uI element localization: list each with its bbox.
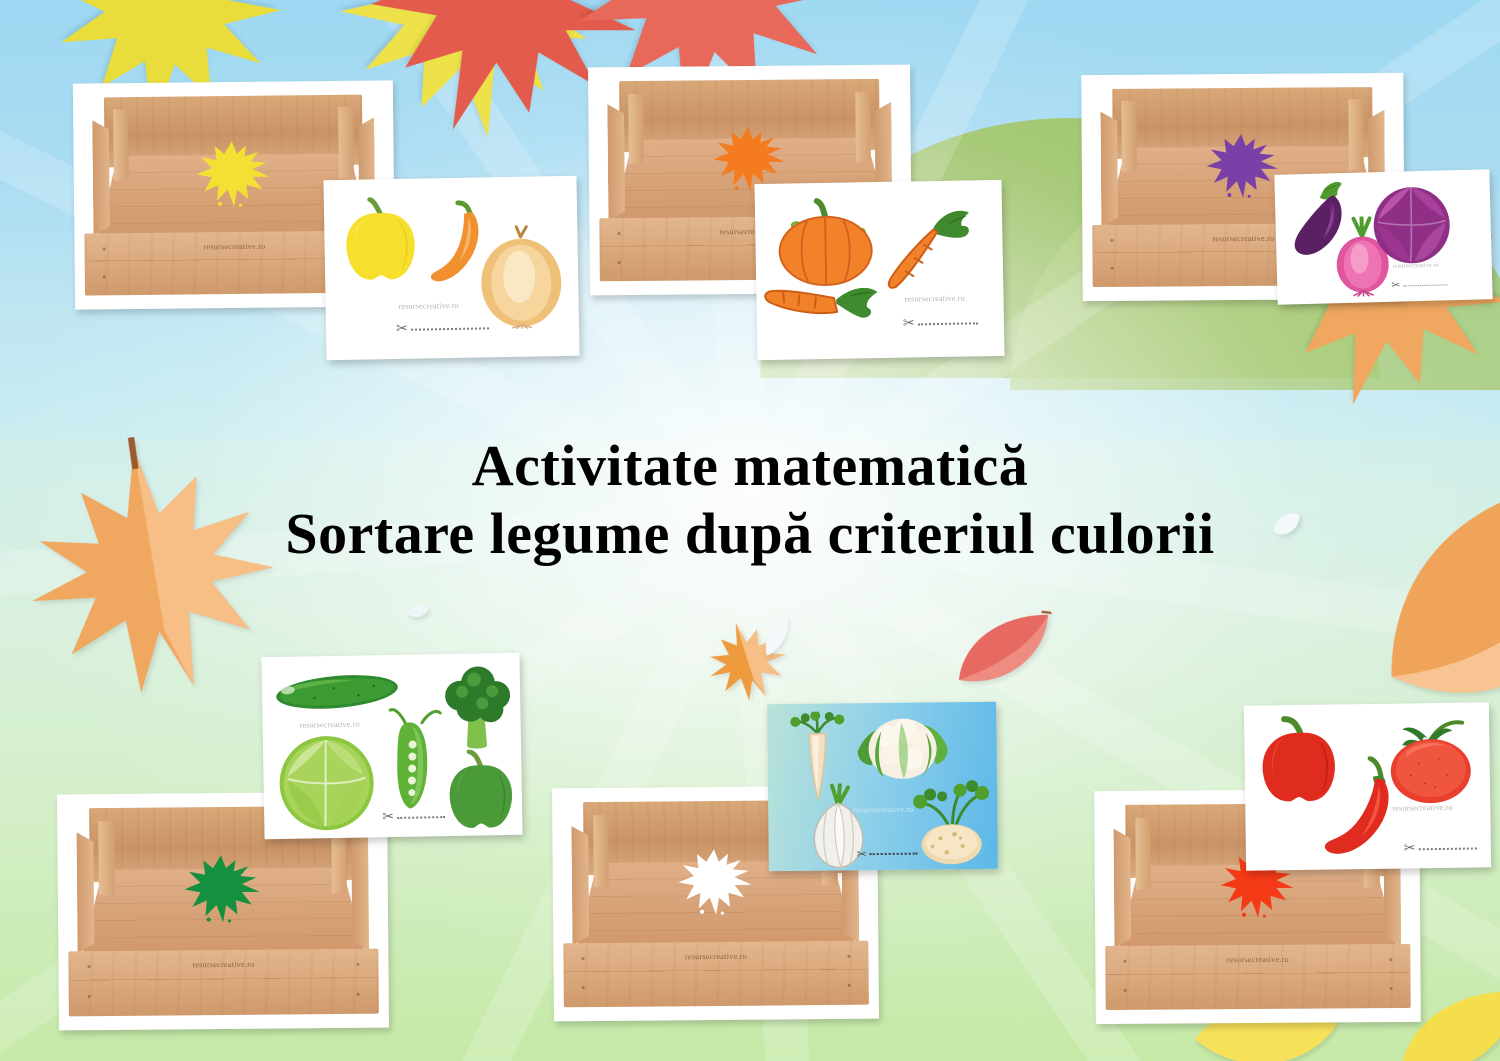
crate-post-left: [98, 821, 114, 895]
dashed-cut-line: [870, 853, 918, 856]
card-red[interactable]: resursecreative.ro ✂: [1244, 702, 1491, 870]
yellow-bell-pepper-icon: [340, 197, 422, 286]
title-line-2: Sortare legume după criteriul culorii: [0, 500, 1500, 568]
yellow-onion-icon: [474, 224, 568, 330]
scissors-icon: ✂: [396, 323, 408, 337]
dashed-cut-line: [1419, 847, 1477, 850]
scissors-icon: ✂: [1391, 281, 1401, 292]
crate-post-left: [113, 110, 129, 180]
card-watermark: resursecreative.ro: [399, 301, 459, 311]
petal-icon: [405, 602, 431, 622]
scissors-icon: ✂: [857, 848, 867, 860]
cut-line: ✂: [382, 810, 445, 825]
card-watermark: resursecreative.ro: [300, 720, 360, 730]
crate-post-left: [1122, 101, 1138, 171]
cut-line: ✂: [1404, 841, 1477, 856]
scissors-icon: ✂: [903, 317, 915, 331]
card-orange[interactable]: resursecreative.ro ✂: [754, 180, 1004, 360]
celeriac-icon: [910, 776, 993, 865]
green-cabbage-icon: [277, 733, 377, 833]
dashed-cut-line: [918, 322, 978, 325]
dashed-cut-line: [397, 816, 445, 819]
crate-side-left: [77, 832, 95, 953]
crate-side-left: [607, 104, 625, 221]
green-bell-pepper-icon: [443, 749, 518, 834]
broccoli-icon: [438, 665, 515, 752]
paint-splat-yellow: [194, 138, 273, 211]
worksheet-page: resursecreative.ro resurs: [0, 0, 1500, 1061]
card-purple[interactable]: resursecreative.ro ✂: [1274, 169, 1492, 305]
card-green[interactable]: resursecreative.ro ✂: [261, 653, 522, 839]
paint-splat-white: [676, 846, 755, 919]
carrot-icon: [882, 200, 974, 299]
cut-line: ✂: [396, 321, 489, 337]
card-white[interactable]: resursecreative.ro ✂: [767, 702, 998, 871]
scissors-icon: ✂: [1404, 842, 1416, 856]
crate-side-right: [351, 830, 369, 951]
crate-post-right: [1348, 100, 1364, 170]
card-yellow[interactable]: resursecreative.ro ✂: [323, 176, 579, 360]
cut-line: ✂: [857, 848, 918, 861]
purple-cabbage-icon: [1371, 184, 1453, 266]
crate-post-left: [628, 94, 644, 165]
crate-post-right: [855, 92, 871, 163]
dashed-cut-line: [411, 327, 489, 330]
paint-splat-green: [182, 852, 263, 927]
scissors-icon: ✂: [382, 811, 394, 825]
card-watermark: resursecreative.ro: [853, 805, 913, 815]
crate-side-left: [571, 826, 589, 945]
crate-post-left: [1135, 818, 1151, 891]
crate-side-left: [1101, 112, 1118, 227]
crate-side-left: [92, 120, 110, 236]
title-line-1: Activitate matematică: [0, 432, 1500, 500]
cucumber-icon: [273, 667, 402, 718]
page-title: Activitate matematică Sortare legume dup…: [0, 432, 1500, 569]
crate-post-left: [593, 815, 609, 888]
crate-post-right: [338, 107, 354, 177]
paint-splat-purple: [1205, 131, 1281, 202]
card-watermark: resursecreative.ro: [904, 294, 964, 304]
cut-line: ✂: [1391, 279, 1447, 291]
carrot-icon: [762, 266, 884, 348]
dashed-cut-line: [1403, 284, 1447, 286]
card-watermark: resursecreative.ro: [1393, 263, 1439, 270]
crate-side-left: [1114, 829, 1132, 948]
cut-line: ✂: [903, 316, 978, 331]
card-watermark: resursecreative.ro: [1392, 803, 1452, 813]
